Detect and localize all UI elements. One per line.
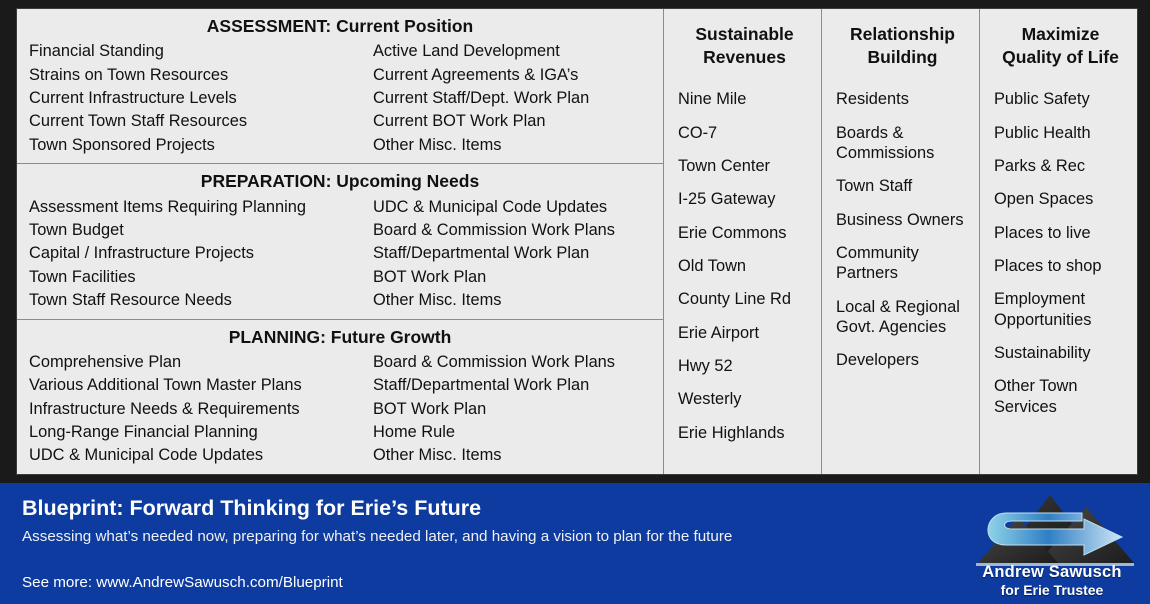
list-item: Town Budget bbox=[29, 219, 365, 242]
list-item: I-25 Gateway bbox=[678, 189, 811, 209]
list-item: Other Misc. Items bbox=[373, 134, 663, 157]
list-item: Town Sponsored Projects bbox=[29, 134, 365, 157]
phase-block-preparation: PREPARATION: Upcoming Needs Assessment I… bbox=[17, 163, 663, 318]
mountains-with-arrow-logo-icon bbox=[962, 489, 1142, 569]
list-item: Infrastructure Needs & Requirements bbox=[29, 398, 365, 421]
list-item: Developers bbox=[836, 350, 969, 370]
column-sustainable-revenues: Sustainable Revenues Nine Mile CO-7 Town… bbox=[663, 9, 821, 474]
footer-banner: Blueprint: Forward Thinking for Erie’s F… bbox=[0, 483, 1150, 604]
phase-block-planning: PLANNING: Future Growth Comprehensive Pl… bbox=[17, 319, 663, 474]
list-item: Sustainability bbox=[994, 343, 1127, 363]
logo-tagline: for Erie Trustee bbox=[962, 582, 1142, 598]
list-item: Current BOT Work Plan bbox=[373, 110, 663, 133]
column-title: Maximize Quality of Life bbox=[994, 23, 1127, 69]
list-item: Public Health bbox=[994, 123, 1127, 143]
column-title: Relationship Building bbox=[836, 23, 969, 69]
phase-title-assessment: ASSESSMENT: Current Position bbox=[17, 15, 663, 40]
phase-title-planning: PLANNING: Future Growth bbox=[17, 326, 663, 351]
list-item: BOT Work Plan bbox=[373, 266, 663, 289]
list-item: Long-Range Financial Planning bbox=[29, 421, 365, 444]
list-item: Town Center bbox=[678, 156, 811, 176]
phase-block-assessment: ASSESSMENT: Current Position Financial S… bbox=[17, 9, 663, 163]
list-item: Strains on Town Resources bbox=[29, 64, 365, 87]
list-item: Residents bbox=[836, 89, 969, 109]
list-item: Other Misc. Items bbox=[373, 444, 663, 467]
list-item: Town Staff bbox=[836, 176, 969, 196]
list-item: Open Spaces bbox=[994, 189, 1127, 209]
phase-assessment-right-list: Active Land Development Current Agreemen… bbox=[365, 40, 663, 156]
list-item: BOT Work Plan bbox=[373, 398, 663, 421]
list-item: Other Town Services bbox=[994, 376, 1127, 417]
list-item: Board & Commission Work Plans bbox=[373, 219, 663, 242]
logo-candidate-name: Andrew Sawusch bbox=[962, 563, 1142, 582]
banner-subtitle: Assessing what’s needed now, preparing f… bbox=[22, 527, 972, 547]
column-relationship-building: Relationship Building Residents Boards &… bbox=[821, 9, 979, 474]
list-item: Current Staff/Dept. Work Plan bbox=[373, 87, 663, 110]
list-item: Town Staff Resource Needs bbox=[29, 289, 365, 312]
column-title: Sustainable Revenues bbox=[678, 23, 811, 69]
list-item: CO-7 bbox=[678, 123, 811, 143]
list-item: Current Infrastructure Levels bbox=[29, 87, 365, 110]
list-item: Current Town Staff Resources bbox=[29, 110, 365, 133]
list-item: Staff/Departmental Work Plan bbox=[373, 242, 663, 265]
phase-preparation-left-list: Assessment Items Requiring Planning Town… bbox=[17, 196, 365, 312]
list-item: Parks & Rec bbox=[994, 156, 1127, 176]
list-item: Assessment Items Requiring Planning bbox=[29, 196, 365, 219]
list-item: Places to live bbox=[994, 223, 1127, 243]
list-item: Various Additional Town Master Plans bbox=[29, 374, 365, 397]
phases-panel: ASSESSMENT: Current Position Financial S… bbox=[17, 9, 663, 474]
phase-title-preparation: PREPARATION: Upcoming Needs bbox=[17, 170, 663, 195]
list-item: Board & Commission Work Plans bbox=[373, 351, 663, 374]
list-item: Old Town bbox=[678, 256, 811, 276]
list-item: Erie Highlands bbox=[678, 423, 811, 443]
list-item: Capital / Infrastructure Projects bbox=[29, 242, 365, 265]
list-item: Town Facilities bbox=[29, 266, 365, 289]
list-item: Places to shop bbox=[994, 256, 1127, 276]
list-item: UDC & Municipal Code Updates bbox=[29, 444, 365, 467]
column-maximize-quality-of-life: Maximize Quality of Life Public Safety P… bbox=[979, 9, 1137, 474]
list-item: Active Land Development bbox=[373, 40, 663, 63]
banner-website-link[interactable]: See more: www.AndrewSawusch.com/Blueprin… bbox=[22, 574, 343, 591]
list-item: Nine Mile bbox=[678, 89, 811, 109]
list-item: Staff/Departmental Work Plan bbox=[373, 374, 663, 397]
phase-planning-left-list: Comprehensive Plan Various Additional To… bbox=[17, 351, 365, 467]
list-item: Boards & Commissions bbox=[836, 123, 969, 164]
list-item: Erie Commons bbox=[678, 223, 811, 243]
list-item: Current Agreements & IGA’s bbox=[373, 64, 663, 87]
phase-preparation-right-list: UDC & Municipal Code Updates Board & Com… bbox=[365, 196, 663, 312]
list-item: UDC & Municipal Code Updates bbox=[373, 196, 663, 219]
list-item: Comprehensive Plan bbox=[29, 351, 365, 374]
banner-title: Blueprint: Forward Thinking for Erie’s F… bbox=[22, 495, 972, 522]
list-item: Employment Opportunities bbox=[994, 289, 1127, 330]
list-item: Westerly bbox=[678, 389, 811, 409]
list-item: Erie Airport bbox=[678, 323, 811, 343]
list-item: County Line Rd bbox=[678, 289, 811, 309]
list-item: Business Owners bbox=[836, 210, 969, 230]
list-item: Hwy 52 bbox=[678, 356, 811, 376]
list-item: Public Safety bbox=[994, 89, 1127, 109]
slide-root: ASSESSMENT: Current Position Financial S… bbox=[0, 0, 1150, 604]
banner-text-group: Blueprint: Forward Thinking for Erie’s F… bbox=[22, 495, 972, 547]
list-item: Local & Regional Govt. Agencies bbox=[836, 297, 969, 338]
list-item: Community Partners bbox=[836, 243, 969, 284]
content-panel: ASSESSMENT: Current Position Financial S… bbox=[16, 8, 1138, 475]
list-item: Financial Standing bbox=[29, 40, 365, 63]
phase-planning-right-list: Board & Commission Work Plans Staff/Depa… bbox=[365, 351, 663, 467]
campaign-logo[interactable]: Andrew Sawusch for Erie Trustee bbox=[962, 489, 1142, 601]
list-item: Other Misc. Items bbox=[373, 289, 663, 312]
list-item: Home Rule bbox=[373, 421, 663, 444]
phase-assessment-left-list: Financial Standing Strains on Town Resou… bbox=[17, 40, 365, 156]
